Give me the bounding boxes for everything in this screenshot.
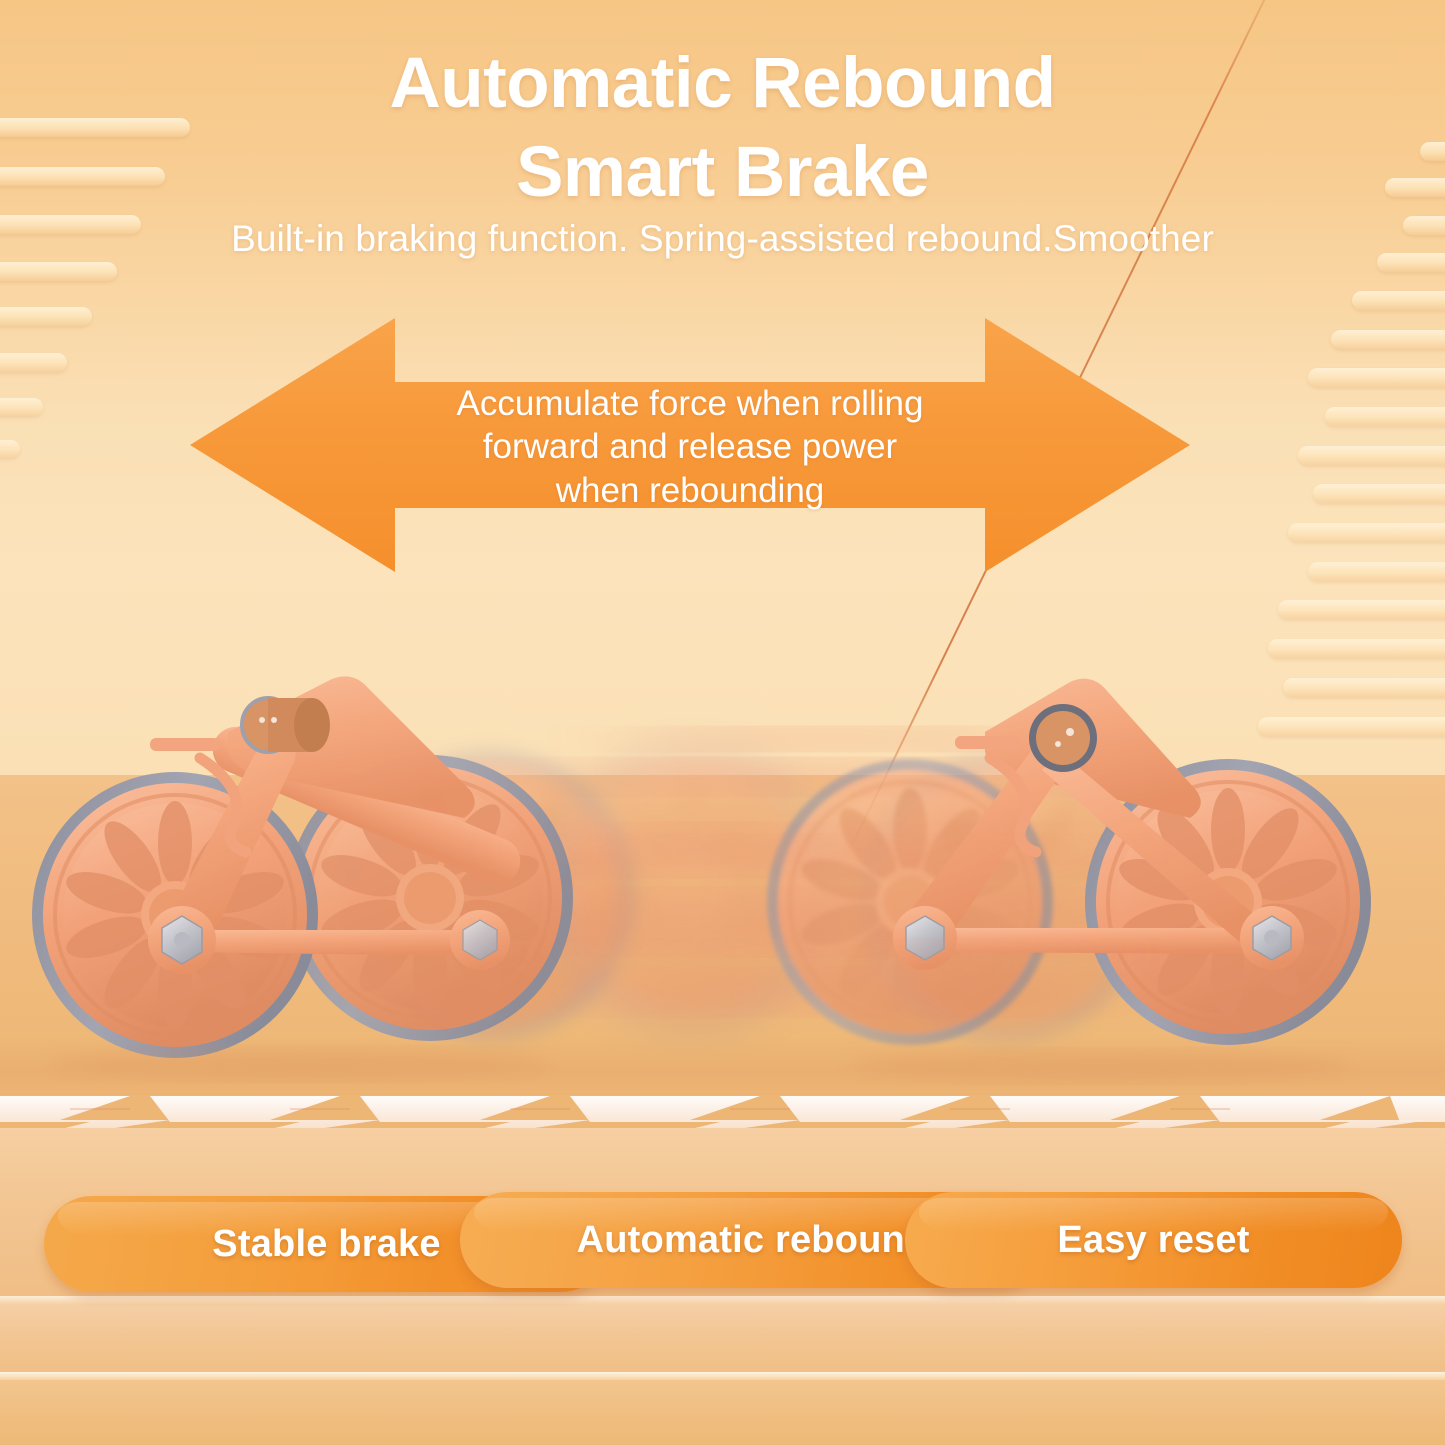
decor-bar-right-5: [1352, 291, 1445, 310]
feature-pill-label: Stable brake: [212, 1223, 440, 1266]
decor-bar-left-5: [0, 307, 92, 326]
headline-line-1: Automatic Rebound: [0, 40, 1445, 129]
product-feature-graphic: Automatic Rebound Smart Brake Built-in b…: [0, 0, 1445, 1445]
shelf-bottom-band: [0, 1380, 1445, 1445]
decor-bar-left-7: [0, 398, 43, 416]
decor-bar-right-13: [1278, 600, 1445, 619]
decor-bar-right-9: [1298, 446, 1445, 465]
decor-bar-left-4: [0, 262, 117, 281]
decor-bar-right-10: [1313, 484, 1445, 503]
decor-bar-right-11: [1288, 523, 1445, 542]
decor-bar-right-6: [1331, 330, 1445, 349]
brake-axle-right: [1029, 704, 1097, 772]
feature-pill-easy-reset[interactable]: Easy reset: [905, 1192, 1402, 1288]
roller-left: [32, 676, 573, 1080]
decor-bar-right-8: [1325, 407, 1445, 426]
decor-bar-right-7: [1308, 368, 1445, 387]
brake-axle-left: [242, 698, 330, 752]
decor-bar-left-6: [0, 353, 67, 372]
arrow-caption-line-2: forward and release power: [190, 425, 1190, 468]
feature-pill-label: Easy reset: [1057, 1219, 1249, 1262]
decor-bar-left-8: [0, 440, 20, 458]
headline-line-2: Smart Brake: [0, 129, 1445, 218]
page-subtitle: Built-in braking function. Spring-assist…: [0, 218, 1445, 260]
feature-pill-label: Automatic rebound: [577, 1219, 929, 1262]
arrow-caption-line-3: when rebounding: [190, 469, 1190, 512]
product-image: [0, 640, 1445, 1110]
shelf-lower-band: [0, 1305, 1445, 1375]
arrow-caption: Accumulate force when rolling forward an…: [190, 382, 1190, 512]
arrow-caption-line-1: Accumulate force when rolling: [190, 382, 1190, 425]
decor-bar-right-12: [1308, 562, 1445, 581]
page-title: Automatic Rebound Smart Brake: [0, 40, 1445, 218]
